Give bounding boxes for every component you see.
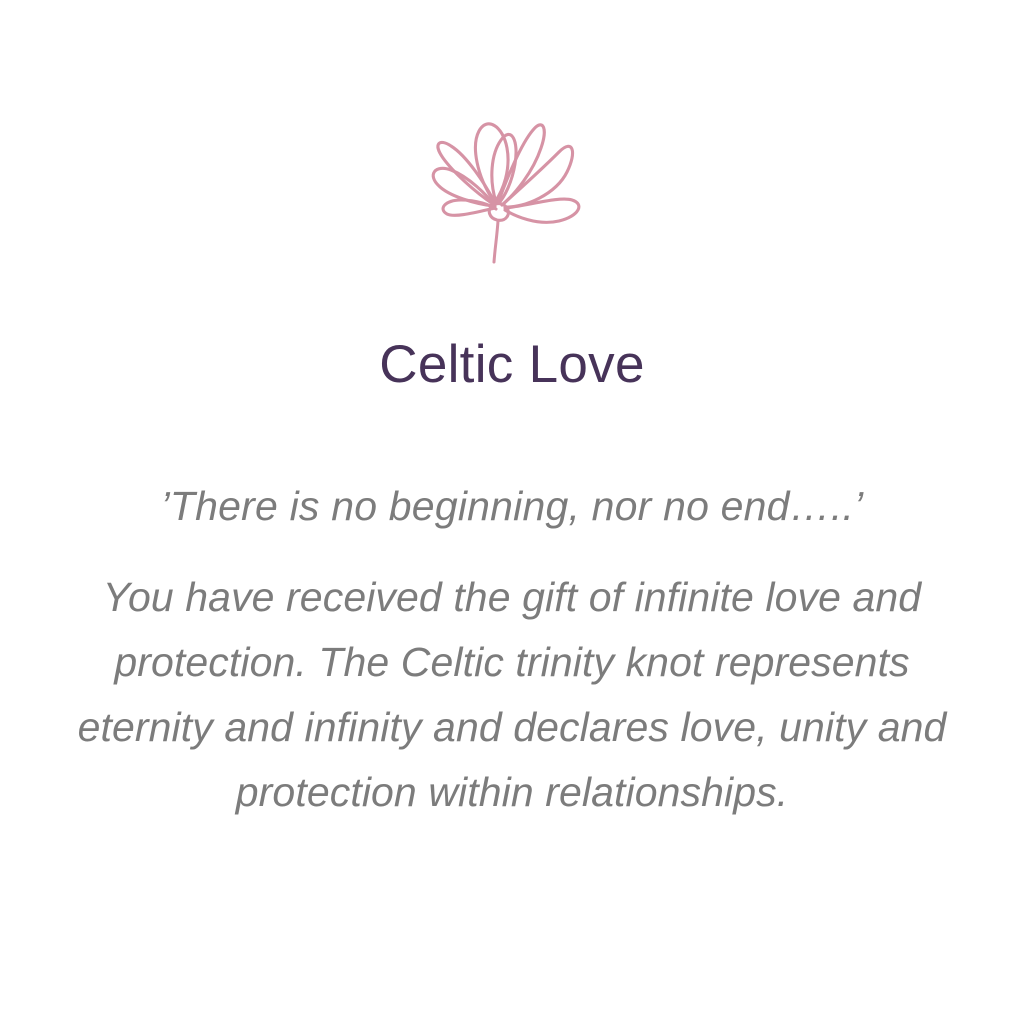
description-line: eternity and infinity and declares love,… (32, 695, 992, 760)
description-line: protection. The Celtic trinity knot repr… (32, 630, 992, 695)
celtic-love-card: Celtic Love ’There is no beginning, nor … (0, 0, 1024, 1024)
flower-icon (417, 96, 607, 264)
description-line: protection within relationships. (32, 760, 992, 825)
flower-line-drawing-svg (417, 96, 607, 264)
description-paragraph: You have received the gift of infinite l… (32, 565, 992, 825)
description-line: You have received the gift of infinite l… (32, 565, 992, 630)
quote-text: ’There is no beginning, nor no end…..’ (0, 480, 1024, 533)
page-title: Celtic Love (0, 335, 1024, 395)
